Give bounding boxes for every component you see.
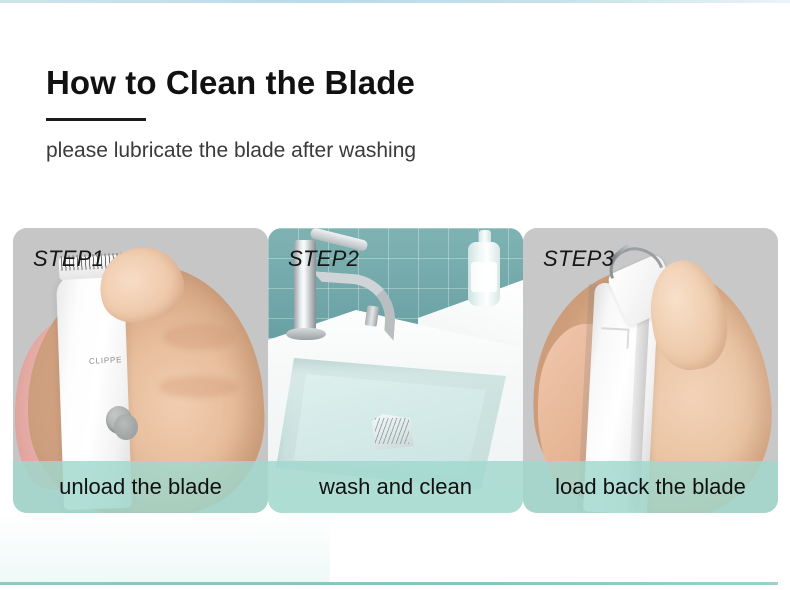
knuckle-crease-icon bbox=[159, 376, 239, 398]
step-caption-bar-1: unload the blade bbox=[13, 461, 268, 513]
step-card-1: CLIPPE STEP1 unload the blade bbox=[13, 228, 268, 513]
page-title: How to Clean the Blade bbox=[46, 62, 746, 104]
detached-blade-teeth-icon bbox=[375, 418, 409, 444]
bottom-wash-background bbox=[0, 512, 330, 582]
step-card-strip: CLIPPE STEP1 unload the blade bbox=[13, 228, 778, 513]
step-caption-bar-3: load back the blade bbox=[523, 461, 778, 513]
step-label-2: STEP2 bbox=[288, 246, 359, 272]
step-card-3: STEP3 load back the blade bbox=[523, 228, 778, 513]
step-caption-text-2: wash and clean bbox=[319, 461, 472, 513]
step-caption-text-1: unload the blade bbox=[59, 461, 222, 513]
step-caption-bar-2: wash and clean bbox=[268, 461, 523, 513]
faucet-base bbox=[286, 328, 326, 340]
top-divider-rule bbox=[0, 0, 790, 3]
step-label-3: STEP3 bbox=[543, 246, 614, 272]
bottom-divider-rule bbox=[0, 582, 778, 585]
title-underline bbox=[46, 118, 146, 121]
step-label-1: STEP1 bbox=[33, 246, 104, 272]
soap-bottle-label bbox=[471, 262, 497, 292]
header-block: How to Clean the Blade please lubricate … bbox=[46, 62, 746, 165]
step-caption-text-3: load back the blade bbox=[555, 461, 746, 513]
device-brand-text: CLIPPE bbox=[89, 355, 123, 366]
page-subtitle: please lubricate the blade after washing bbox=[46, 137, 746, 165]
knuckle-crease-icon bbox=[163, 324, 235, 350]
step-card-2: STEP2 wash and clean bbox=[268, 228, 523, 513]
blade-mount-notch bbox=[600, 327, 629, 348]
product-instruction-page: How to Clean the Blade please lubricate … bbox=[0, 0, 790, 590]
power-button-shape-secondary bbox=[114, 414, 138, 440]
